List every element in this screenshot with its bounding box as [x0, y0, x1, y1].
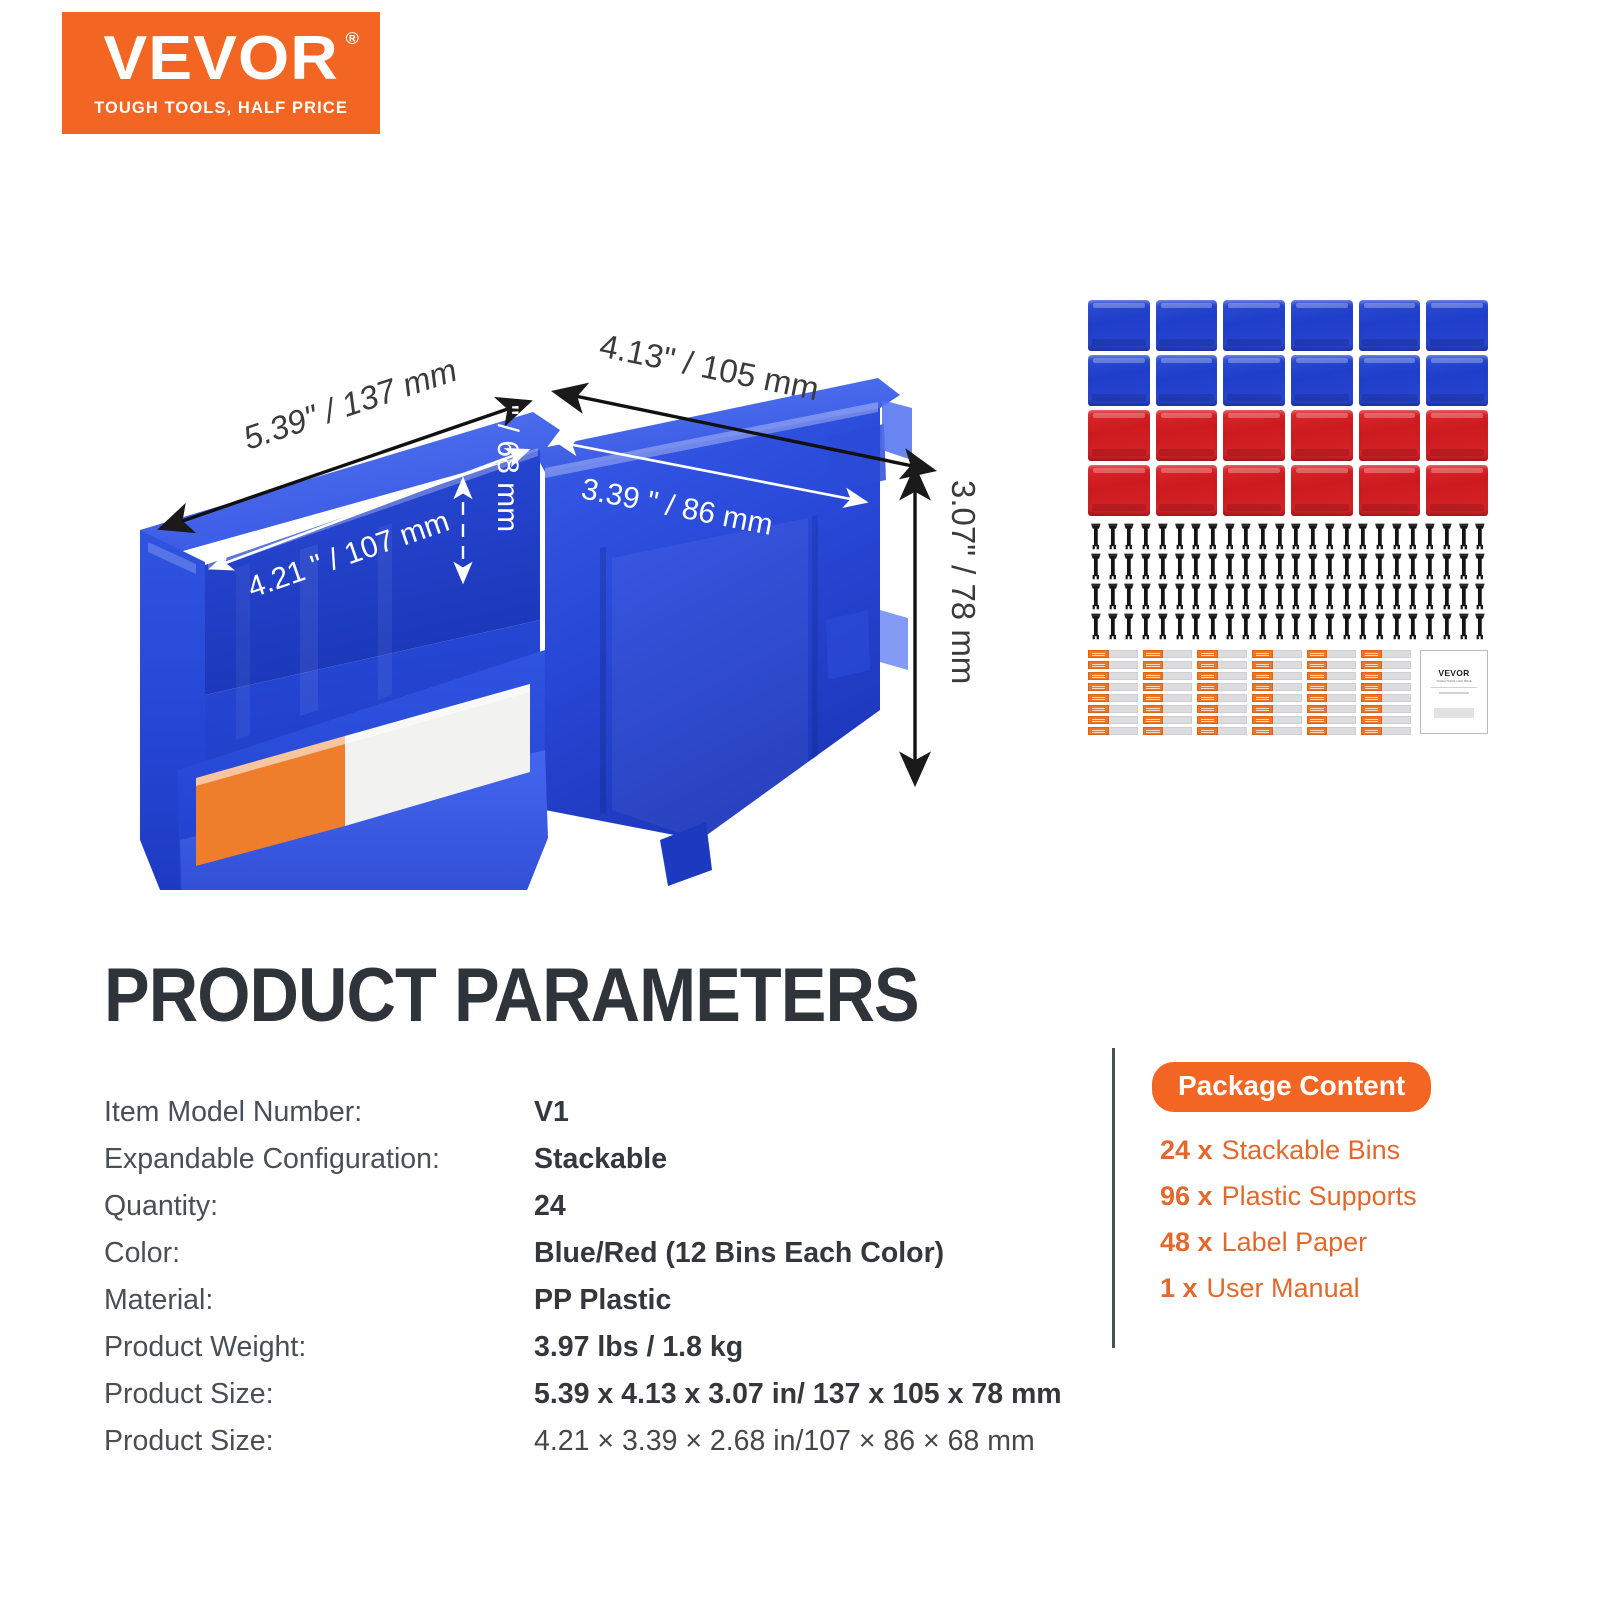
brand-tagline: TOUGH TOOLS, HALF PRICE: [94, 99, 348, 118]
label-paper-item: [1197, 705, 1247, 713]
label-paper-tag: [1088, 672, 1109, 680]
plastic-supports-grid: [1088, 523, 1488, 640]
label-paper-item: [1143, 705, 1193, 713]
package-item-quantity: 1 x: [1160, 1273, 1198, 1304]
plastic-support-icon: [1372, 613, 1388, 640]
label-paper-item: [1252, 683, 1302, 691]
label-paper-item: [1197, 650, 1247, 658]
label-paper-item: [1361, 727, 1411, 735]
label-paper-tag: [1197, 694, 1218, 702]
plastic-support-icon: [1172, 553, 1188, 580]
label-paper-tag: [1361, 683, 1382, 691]
dimension-label-outer-length: 5.39" / 137 mm: [238, 351, 461, 457]
label-paper-tag: [1197, 683, 1218, 691]
label-paper-tag: [1088, 716, 1109, 724]
label-paper-strip: [1163, 694, 1192, 702]
spec-value: Stackable: [534, 1143, 667, 1176]
spec-key: Material:: [104, 1284, 534, 1317]
label-paper-strip: [1327, 650, 1356, 658]
label-paper-tag: [1307, 650, 1328, 658]
label-paper-strip: [1382, 672, 1411, 680]
label-paper-tag: [1361, 716, 1382, 724]
plastic-support-icon: [1238, 583, 1254, 610]
spec-row: Quantity:24: [104, 1190, 1104, 1237]
plastic-support-icon: [1405, 583, 1421, 610]
label-paper-item: [1361, 672, 1411, 680]
plastic-support-icon: [1339, 583, 1355, 610]
label-paper-tag: [1252, 716, 1273, 724]
label-paper-strip: [1218, 683, 1247, 691]
label-paper-strip: [1327, 705, 1356, 713]
label-paper-item: [1088, 672, 1138, 680]
plastic-support-icon: [1088, 583, 1104, 610]
mini-bin-red: [1359, 410, 1421, 461]
dimension-label-outer-height: 3.07" / 78 mm: [945, 480, 982, 684]
plastic-support-icon: [1222, 613, 1238, 640]
label-paper-item: [1088, 694, 1138, 702]
plastic-support-icon: [1405, 523, 1421, 550]
plastic-support-icon: [1422, 523, 1438, 550]
label-paper-tag: [1088, 727, 1109, 735]
label-paper-item: [1088, 661, 1138, 669]
label-paper-item: [1197, 727, 1247, 735]
label-paper-item: [1088, 650, 1138, 658]
package-item-quantity: 96 x: [1160, 1181, 1213, 1212]
label-paper-strip: [1273, 727, 1302, 735]
label-paper-tag: [1197, 650, 1218, 658]
plastic-support-icon: [1255, 553, 1271, 580]
dimension-label-inner-height: 2.68 " / 68 mm: [491, 338, 524, 532]
plastic-support-icon: [1088, 613, 1104, 640]
label-paper-strip: [1327, 694, 1356, 702]
label-paper-tag: [1307, 672, 1328, 680]
manual-text-line: [1439, 692, 1469, 693]
plastic-support-icon: [1155, 553, 1171, 580]
label-paper-strip: [1163, 683, 1192, 691]
plastic-support-icon: [1172, 613, 1188, 640]
label-paper-strip: [1109, 672, 1138, 680]
plastic-support-icon: [1205, 613, 1221, 640]
label-paper-item: [1088, 683, 1138, 691]
label-paper-item: [1143, 650, 1193, 658]
plastic-support-icon: [1138, 553, 1154, 580]
plastic-support-icon: [1272, 583, 1288, 610]
plastic-support-icon: [1105, 613, 1121, 640]
plastic-support-icon: [1105, 553, 1121, 580]
label-paper-item: [1143, 716, 1193, 724]
plastic-support-icon: [1372, 523, 1388, 550]
label-paper-strip: [1163, 672, 1192, 680]
manual-logo: VEVOR: [1438, 668, 1469, 678]
plastic-support-icon: [1322, 613, 1338, 640]
plastic-support-icon: [1355, 523, 1371, 550]
plastic-support-icon: [1138, 523, 1154, 550]
label-paper-tag: [1252, 727, 1273, 735]
plastic-support-icon: [1322, 523, 1338, 550]
spec-row: Product Size:5.39 x 4.13 x 3.07 in/ 137 …: [104, 1378, 1104, 1425]
plastic-support-icon: [1188, 523, 1204, 550]
label-paper-column: [1361, 650, 1411, 738]
label-paper-tag: [1361, 727, 1382, 735]
spec-key: Expandable Configuration:: [104, 1143, 534, 1176]
label-paper-item: [1361, 683, 1411, 691]
label-paper-and-manual: VEVOR TOUGH TOOLS, HALF PRICE: [1088, 650, 1488, 738]
label-paper-item: [1197, 661, 1247, 669]
plastic-support-icon: [1272, 553, 1288, 580]
package-item-name: Plastic Supports: [1222, 1181, 1417, 1212]
spec-row: Color:Blue/Red (12 Bins Each Color): [104, 1237, 1104, 1284]
plastic-support-icon: [1339, 523, 1355, 550]
plastic-support-icon: [1288, 553, 1304, 580]
label-paper-strip: [1273, 683, 1302, 691]
label-paper-strip: [1382, 683, 1411, 691]
mini-bin-red: [1426, 410, 1488, 461]
plastic-support-icon: [1372, 553, 1388, 580]
label-paper-strip: [1163, 716, 1192, 724]
plastic-support-icon: [1439, 523, 1455, 550]
plastic-support-icon: [1389, 523, 1405, 550]
label-paper-strip: [1273, 705, 1302, 713]
label-paper-item: [1361, 650, 1411, 658]
label-paper-tag: [1307, 694, 1328, 702]
label-paper-strip: [1327, 661, 1356, 669]
plastic-support-icon: [1172, 583, 1188, 610]
label-paper-tag: [1197, 716, 1218, 724]
plastic-support-icon: [1255, 523, 1271, 550]
package-content-item: 48 xLabel Paper: [1160, 1227, 1590, 1273]
plastic-support-icon: [1288, 583, 1304, 610]
label-paper-tag: [1252, 650, 1273, 658]
plastic-support-icon: [1439, 583, 1455, 610]
plastic-support-icon: [1389, 553, 1405, 580]
label-paper-strip: [1273, 661, 1302, 669]
mini-bin-blue: [1291, 300, 1353, 351]
spec-key: Product Size:: [104, 1378, 534, 1411]
plastic-support-icon: [1456, 583, 1472, 610]
label-paper-grid: [1088, 650, 1411, 738]
plastic-support-icon: [1456, 613, 1472, 640]
plastic-support-icon: [1305, 523, 1321, 550]
label-paper-strip: [1327, 683, 1356, 691]
user-manual-thumbnail: VEVOR TOUGH TOOLS, HALF PRICE: [1420, 650, 1488, 734]
label-paper-strip: [1218, 727, 1247, 735]
label-paper-tag: [1361, 661, 1382, 669]
label-paper-strip: [1109, 694, 1138, 702]
product-hero-image: 5.39" / 137 mm 4.13" / 105 mm 3.07" / 78…: [0, 150, 1040, 890]
plastic-support-icon: [1205, 553, 1221, 580]
spec-key: Product Size:: [104, 1425, 534, 1458]
mini-bin-blue: [1426, 355, 1488, 406]
label-paper-strip: [1382, 727, 1411, 735]
mini-bin-red: [1291, 410, 1353, 461]
plastic-support-icon: [1272, 523, 1288, 550]
plastic-support-icon: [1255, 613, 1271, 640]
plastic-support-icon: [1121, 523, 1137, 550]
label-paper-strip: [1273, 716, 1302, 724]
label-paper-item: [1088, 716, 1138, 724]
label-paper-tag: [1143, 683, 1164, 691]
label-paper-strip: [1109, 650, 1138, 658]
label-paper-strip: [1109, 683, 1138, 691]
label-paper-item: [1361, 694, 1411, 702]
plastic-support-icon: [1138, 613, 1154, 640]
label-paper-tag: [1143, 727, 1164, 735]
label-paper-strip: [1218, 694, 1247, 702]
mini-bin-red: [1156, 465, 1218, 516]
plastic-support-icon: [1088, 523, 1104, 550]
label-paper-tag: [1197, 672, 1218, 680]
mini-bin-blue: [1426, 300, 1488, 351]
plastic-support-icon: [1222, 583, 1238, 610]
label-paper-strip: [1382, 705, 1411, 713]
label-paper-tag: [1197, 727, 1218, 735]
label-paper-strip: [1382, 661, 1411, 669]
plastic-support-icon: [1305, 553, 1321, 580]
plastic-support-icon: [1339, 613, 1355, 640]
mini-bin-blue: [1223, 300, 1285, 351]
plastic-support-icon: [1188, 583, 1204, 610]
label-paper-item: [1252, 694, 1302, 702]
label-paper-tag: [1143, 694, 1164, 702]
plastic-support-icon: [1355, 553, 1371, 580]
label-paper-item: [1143, 683, 1193, 691]
label-paper-strip: [1327, 672, 1356, 680]
label-paper-tag: [1361, 650, 1382, 658]
plastic-support-icon: [1372, 583, 1388, 610]
brand-name-text: VEVOR: [103, 24, 338, 93]
plastic-support-icon: [1305, 613, 1321, 640]
plastic-support-icon: [1121, 613, 1137, 640]
spec-key: Color:: [104, 1237, 534, 1270]
spec-value: 3.97 lbs / 1.8 kg: [534, 1331, 743, 1364]
label-paper-strip: [1109, 727, 1138, 735]
mini-bin-blue: [1088, 300, 1150, 351]
plastic-support-icon: [1389, 583, 1405, 610]
label-paper-tag: [1307, 716, 1328, 724]
mini-bin-red: [1088, 410, 1150, 461]
plastic-support-icon: [1155, 583, 1171, 610]
plastic-support-icon: [1155, 613, 1171, 640]
plastic-support-icon: [1105, 523, 1121, 550]
label-paper-column: [1307, 650, 1357, 738]
label-paper-tag: [1361, 672, 1382, 680]
plastic-support-icon: [1405, 613, 1421, 640]
plastic-support-icon: [1205, 583, 1221, 610]
plastic-support-icon: [1172, 523, 1188, 550]
label-paper-item: [1307, 716, 1357, 724]
mini-bin-red: [1291, 465, 1353, 516]
package-content-item: 24 xStackable Bins: [1160, 1135, 1590, 1181]
mini-bin-red: [1359, 465, 1421, 516]
plastic-support-icon: [1405, 553, 1421, 580]
package-item-name: User Manual: [1207, 1273, 1360, 1304]
label-paper-item: [1143, 672, 1193, 680]
label-paper-strip: [1218, 661, 1247, 669]
mini-bin-red: [1223, 465, 1285, 516]
label-paper-tag: [1143, 650, 1164, 658]
plastic-support-icon: [1472, 523, 1488, 550]
mini-bin-blue: [1359, 355, 1421, 406]
label-paper-item: [1307, 661, 1357, 669]
label-paper-tag: [1361, 705, 1382, 713]
label-paper-column: [1143, 650, 1193, 738]
label-paper-item: [1361, 661, 1411, 669]
label-paper-item: [1307, 705, 1357, 713]
label-paper-strip: [1218, 705, 1247, 713]
page-title: PRODUCT PARAMETERS: [104, 958, 919, 1034]
label-paper-item: [1252, 727, 1302, 735]
plastic-support-icon: [1105, 583, 1121, 610]
plastic-support-icon: [1456, 523, 1472, 550]
label-paper-tag: [1307, 705, 1328, 713]
label-paper-item: [1307, 727, 1357, 735]
spec-value: V1: [534, 1096, 569, 1129]
dimension-label-outer-width: 4.13" / 105 mm: [597, 327, 823, 408]
spec-key: Product Weight:: [104, 1331, 534, 1364]
label-paper-strip: [1218, 650, 1247, 658]
label-paper-tag: [1252, 694, 1273, 702]
plastic-support-icon: [1472, 583, 1488, 610]
label-paper-strip: [1327, 727, 1356, 735]
label-paper-tag: [1143, 716, 1164, 724]
label-paper-item: [1197, 716, 1247, 724]
label-paper-strip: [1273, 672, 1302, 680]
plastic-support-icon: [1138, 583, 1154, 610]
label-paper-tag: [1088, 650, 1109, 658]
label-paper-tag: [1197, 661, 1218, 669]
spec-row: Material:PP Plastic: [104, 1284, 1104, 1331]
label-paper-strip: [1218, 716, 1247, 724]
package-content-badge: Package Content: [1152, 1062, 1431, 1112]
mini-bin-red: [1088, 465, 1150, 516]
package-item-quantity: 48 x: [1160, 1227, 1213, 1258]
label-paper-strip: [1327, 716, 1356, 724]
label-paper-tag: [1361, 694, 1382, 702]
mini-bin-blue: [1291, 355, 1353, 406]
plastic-support-icon: [1205, 523, 1221, 550]
label-paper-item: [1307, 683, 1357, 691]
label-paper-tag: [1307, 727, 1328, 735]
label-paper-strip: [1382, 650, 1411, 658]
label-paper-item: [1252, 650, 1302, 658]
mini-bin-blue: [1156, 300, 1218, 351]
label-paper-item: [1361, 705, 1411, 713]
label-paper-item: [1307, 694, 1357, 702]
product-parameters-table: Item Model Number:V1Expandable Configura…: [104, 1096, 1104, 1472]
spec-row: Product Size:4.21 × 3.39 × 2.68 in/107 ×…: [104, 1425, 1104, 1472]
plastic-support-icon: [1222, 523, 1238, 550]
label-paper-tag: [1088, 694, 1109, 702]
package-item-name: Label Paper: [1222, 1227, 1368, 1258]
plastic-support-icon: [1121, 553, 1137, 580]
label-paper-strip: [1163, 661, 1192, 669]
label-paper-tag: [1143, 705, 1164, 713]
plastic-support-icon: [1322, 553, 1338, 580]
label-paper-item: [1143, 694, 1193, 702]
brand-name: VEVOR®: [103, 28, 338, 90]
plastic-support-icon: [1355, 613, 1371, 640]
plastic-support-icon: [1439, 553, 1455, 580]
label-paper-strip: [1382, 716, 1411, 724]
label-paper-column: [1088, 650, 1138, 738]
spec-value: Blue/Red (12 Bins Each Color): [534, 1237, 944, 1270]
plastic-support-icon: [1222, 553, 1238, 580]
brand-logo: VEVOR® TOUGH TOOLS, HALF PRICE: [62, 12, 380, 134]
manual-text-line: [1431, 687, 1477, 688]
label-paper-tag: [1252, 661, 1273, 669]
label-paper-tag: [1252, 683, 1273, 691]
plastic-support-icon: [1238, 613, 1254, 640]
plastic-support-icon: [1255, 583, 1271, 610]
plastic-support-icon: [1422, 583, 1438, 610]
mini-bin-red: [1426, 465, 1488, 516]
plastic-support-icon: [1238, 523, 1254, 550]
label-paper-item: [1252, 716, 1302, 724]
label-paper-strip: [1163, 727, 1192, 735]
label-paper-item: [1361, 716, 1411, 724]
label-paper-strip: [1109, 716, 1138, 724]
plastic-support-icon: [1339, 553, 1355, 580]
label-paper-strip: [1163, 650, 1192, 658]
label-paper-item: [1252, 672, 1302, 680]
spec-row: Product Weight:3.97 lbs / 1.8 kg: [104, 1331, 1104, 1378]
spec-value: PP Plastic: [534, 1284, 671, 1317]
label-paper-tag: [1143, 672, 1164, 680]
label-paper-tag: [1088, 705, 1109, 713]
plastic-support-icon: [1472, 613, 1488, 640]
label-paper-item: [1088, 727, 1138, 735]
label-paper-item: [1143, 661, 1193, 669]
plastic-support-icon: [1188, 553, 1204, 580]
bins-grid: [1088, 300, 1488, 516]
label-paper-tag: [1088, 683, 1109, 691]
label-paper-strip: [1218, 672, 1247, 680]
mini-bin-blue: [1359, 300, 1421, 351]
plastic-support-icon: [1389, 613, 1405, 640]
mini-bin-blue: [1223, 355, 1285, 406]
package-item-name: Stackable Bins: [1222, 1135, 1401, 1166]
label-paper-column: [1197, 650, 1247, 738]
label-paper-tag: [1143, 661, 1164, 669]
package-contents-visual: VEVOR TOUGH TOOLS, HALF PRICE: [1088, 300, 1488, 810]
label-paper-item: [1307, 650, 1357, 658]
spec-value: 5.39 x 4.13 x 3.07 in/ 137 x 105 x 78 mm: [534, 1378, 1062, 1411]
plastic-support-icon: [1155, 523, 1171, 550]
manual-text-block: [1434, 708, 1475, 718]
label-paper-tag: [1197, 705, 1218, 713]
package-content-item: 96 xPlastic Supports: [1160, 1181, 1590, 1227]
package-content-item: 1 xUser Manual: [1160, 1273, 1590, 1319]
plastic-support-icon: [1121, 583, 1137, 610]
vertical-divider: [1112, 1048, 1115, 1348]
plastic-support-icon: [1422, 613, 1438, 640]
label-paper-item: [1252, 705, 1302, 713]
label-paper-item: [1197, 672, 1247, 680]
spec-key: Quantity:: [104, 1190, 534, 1223]
plastic-support-icon: [1472, 553, 1488, 580]
label-paper-tag: [1252, 705, 1273, 713]
label-paper-tag: [1307, 661, 1328, 669]
label-paper-tag: [1088, 661, 1109, 669]
label-paper-item: [1252, 661, 1302, 669]
plastic-support-icon: [1188, 613, 1204, 640]
label-paper-strip: [1163, 705, 1192, 713]
spec-value: 24: [534, 1190, 566, 1223]
label-paper-tag: [1307, 683, 1328, 691]
plastic-support-icon: [1305, 583, 1321, 610]
plastic-support-icon: [1422, 553, 1438, 580]
spec-row: Expandable Configuration:Stackable: [104, 1143, 1104, 1190]
